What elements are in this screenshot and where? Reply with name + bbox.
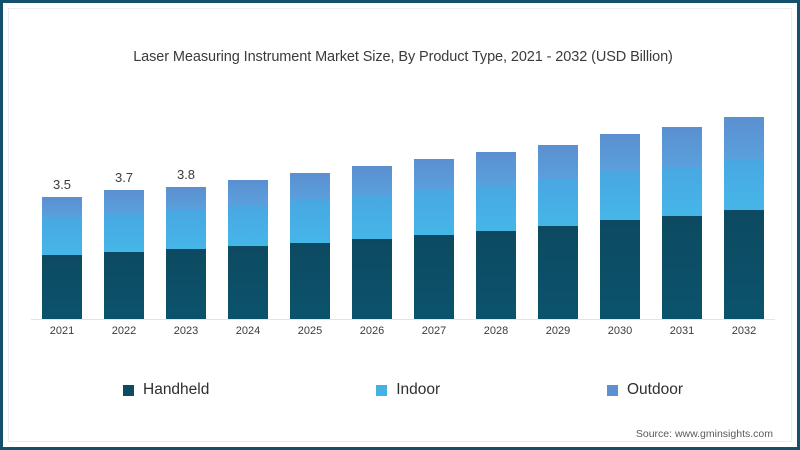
bar-segment-outdoor <box>662 127 702 167</box>
x-axis-tick-label: 2031 <box>651 325 713 337</box>
bar-segment-outdoor <box>166 187 206 210</box>
bar-segment-outdoor <box>290 173 330 201</box>
stacked-bar[interactable] <box>166 187 206 319</box>
bar-segment-indoor <box>228 205 268 246</box>
bar-group <box>713 103 775 319</box>
bar-series-container: 3.53.73.8 <box>31 103 775 319</box>
bar-segment-indoor <box>42 217 82 255</box>
stacked-bar[interactable] <box>724 117 764 319</box>
legend-label: Outdoor <box>627 381 683 399</box>
bar-segment-indoor <box>290 200 330 243</box>
bar-segment-handheld <box>228 246 268 319</box>
bar-group: 3.5 <box>31 103 93 319</box>
chart-frame: Laser Measuring Instrument Market Size, … <box>0 0 800 450</box>
x-axis-tick-label: 2026 <box>341 325 403 337</box>
bar-segment-handheld <box>166 249 206 319</box>
x-axis-tick-label: 2023 <box>155 325 217 337</box>
legend-swatch-icon <box>607 385 618 396</box>
x-axis-tick-label: 2022 <box>93 325 155 337</box>
bar-segment-indoor <box>600 172 640 220</box>
stacked-bar[interactable] <box>600 134 640 319</box>
bar-segment-indoor <box>352 195 392 239</box>
bar-segment-indoor <box>166 210 206 250</box>
bar-value-label: 3.5 <box>53 177 71 192</box>
bar-segment-indoor <box>414 190 454 235</box>
bar-segment-handheld <box>290 243 330 319</box>
bar-segment-outdoor <box>42 197 82 217</box>
x-axis-tick-label: 2029 <box>527 325 589 337</box>
bar-group <box>465 103 527 319</box>
bar-group <box>403 103 465 319</box>
bar-segment-indoor <box>724 160 764 211</box>
stacked-bar[interactable] <box>352 166 392 319</box>
bar-group <box>341 103 403 319</box>
legend-item-handheld[interactable]: Handheld <box>123 381 209 399</box>
bar-segment-handheld <box>352 239 392 319</box>
bar-segment-outdoor <box>600 134 640 172</box>
bar-segment-handheld <box>104 252 144 319</box>
stacked-bar[interactable] <box>104 190 144 319</box>
bar-segment-outdoor <box>476 152 516 185</box>
x-axis-tick-label: 2028 <box>465 325 527 337</box>
stacked-bar[interactable] <box>290 173 330 319</box>
legend-swatch-icon <box>376 385 387 396</box>
x-axis-tick-label: 2021 <box>31 325 93 337</box>
bar-segment-handheld <box>600 220 640 319</box>
stacked-bar[interactable] <box>538 145 578 319</box>
bar-value-label: 3.8 <box>177 167 195 182</box>
bar-segment-outdoor <box>538 145 578 180</box>
bar-segment-handheld <box>724 210 764 319</box>
legend-item-outdoor[interactable]: Outdoor <box>607 381 683 399</box>
bar-segment-outdoor <box>352 166 392 196</box>
bar-segment-indoor <box>662 167 702 216</box>
bar-segment-indoor <box>104 213 144 252</box>
bar-segment-outdoor <box>724 117 764 160</box>
bar-group <box>589 103 651 319</box>
legend-swatch-icon <box>123 385 134 396</box>
stacked-bar[interactable] <box>662 127 702 319</box>
bar-segment-outdoor <box>104 190 144 213</box>
bar-segment-outdoor <box>414 159 454 190</box>
x-axis-line <box>31 319 775 320</box>
legend-label: Handheld <box>143 381 209 399</box>
bar-group: 3.8 <box>155 103 217 319</box>
bar-segment-indoor <box>538 180 578 227</box>
bar-segment-handheld <box>662 216 702 319</box>
bar-segment-handheld <box>538 226 578 319</box>
bar-segment-handheld <box>476 231 516 319</box>
source-note: Source: www.gminsights.com <box>636 428 773 440</box>
bar-segment-outdoor <box>228 180 268 205</box>
x-axis-tick-label: 2030 <box>589 325 651 337</box>
bar-value-label: 3.7 <box>115 170 133 185</box>
x-axis-tick-label: 2025 <box>279 325 341 337</box>
x-axis-tick-label: 2032 <box>713 325 775 337</box>
bar-segment-handheld <box>42 255 82 319</box>
bar-segment-handheld <box>414 235 454 319</box>
stacked-bar[interactable] <box>228 180 268 319</box>
bar-group <box>279 103 341 319</box>
chart-title: Laser Measuring Instrument Market Size, … <box>3 49 800 65</box>
bar-segment-indoor <box>476 185 516 231</box>
chart-legend: HandheldIndoorOutdoor <box>123 381 683 399</box>
bar-group <box>527 103 589 319</box>
legend-item-indoor[interactable]: Indoor <box>376 381 440 399</box>
stacked-bar[interactable] <box>476 152 516 319</box>
x-axis-labels: 2021202220232024202520262027202820292030… <box>31 325 775 337</box>
stacked-bar[interactable] <box>414 159 454 319</box>
x-axis-tick-label: 2027 <box>403 325 465 337</box>
x-axis-tick-label: 2024 <box>217 325 279 337</box>
bar-group <box>217 103 279 319</box>
bar-group: 3.7 <box>93 103 155 319</box>
bar-group <box>651 103 713 319</box>
stacked-bar[interactable] <box>42 197 82 319</box>
legend-label: Indoor <box>396 381 440 399</box>
